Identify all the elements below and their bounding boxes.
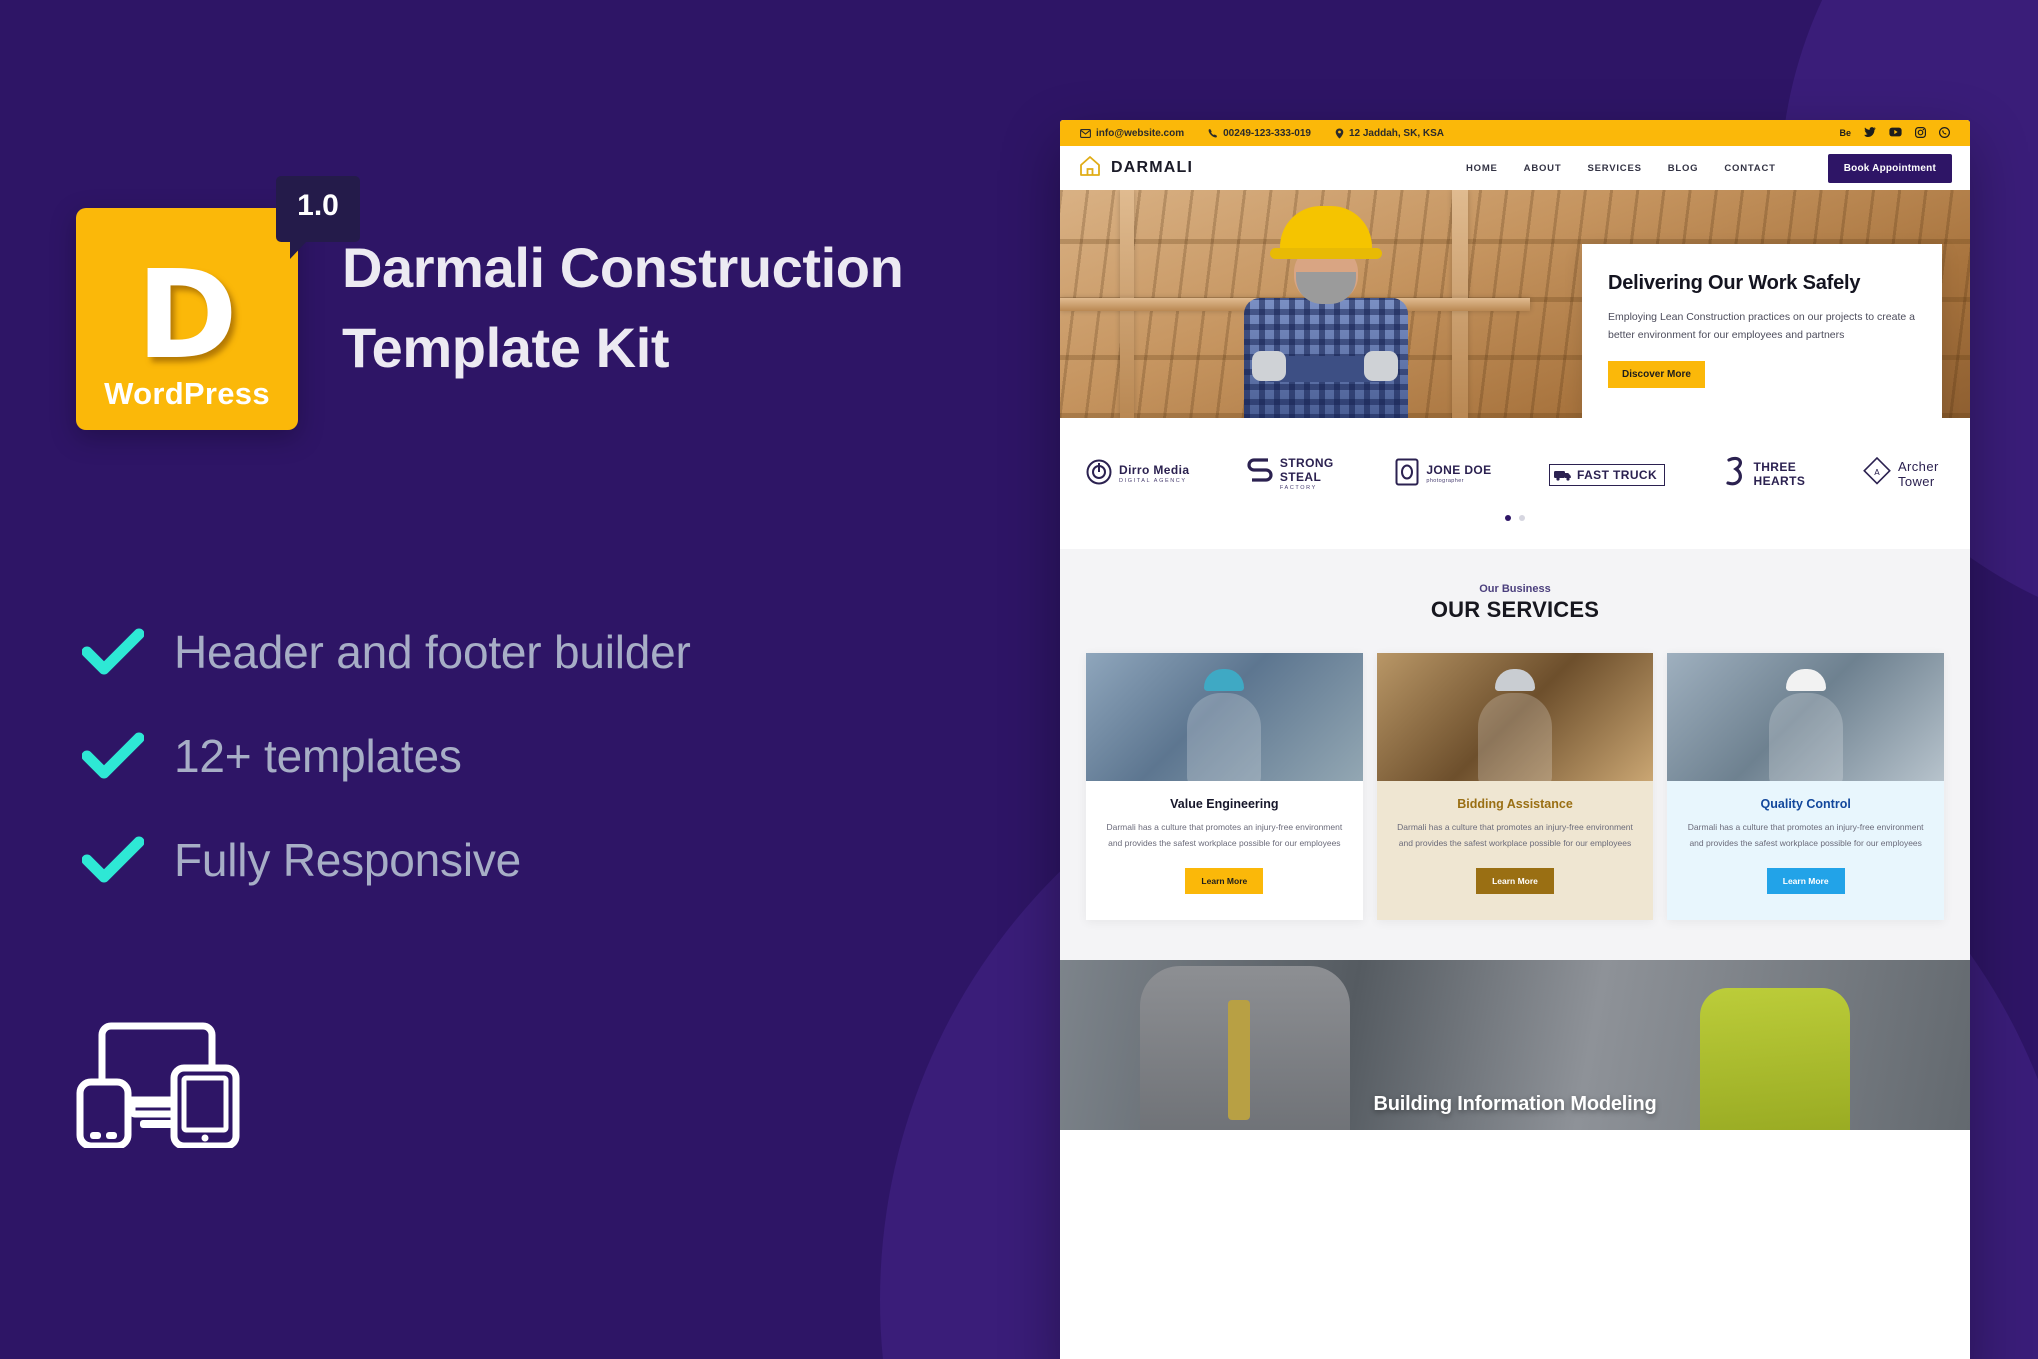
feature-list: Header and footer builder 12+ templates … <box>82 600 982 912</box>
list-item: Header and footer builder <box>82 600 982 704</box>
twitter-icon[interactable] <box>1864 127 1876 139</box>
partner-jone-doe[interactable]: JONE DOE photographer <box>1395 458 1491 491</box>
hero-worker-photo <box>1228 206 1424 418</box>
instagram-icon[interactable] <box>1915 127 1926 140</box>
strong-steal-logo-icon <box>1247 457 1273 492</box>
page-title-line1: Darmali Construction <box>342 228 1042 308</box>
bottom-band-section: Building Information Modeling <box>1060 960 1970 1130</box>
hero-body: Employing Lean Construction practices on… <box>1608 308 1916 345</box>
nav-item-home[interactable]: HOME <box>1466 163 1498 174</box>
partner-fast-truck[interactable]: FAST TRUCK <box>1549 464 1665 486</box>
envelope-icon <box>1080 129 1091 138</box>
contact-phone[interactable]: 00249-123-333-019 <box>1208 128 1311 139</box>
services-section: Our Business OUR SERVICES Value Engineer… <box>1060 549 1970 960</box>
service-card-value-engineering[interactable]: Value Engineering Darmali has a culture … <box>1086 653 1363 920</box>
services-title: OUR SERVICES <box>1086 597 1944 623</box>
service-heading: Value Engineering <box>1104 797 1345 811</box>
hero-heading: Delivering Our Work Safely <box>1608 272 1916 295</box>
site-navigation: DARMALI HOME ABOUT SERVICES BLOG CONTACT… <box>1060 146 1970 190</box>
service-image <box>1667 653 1944 781</box>
worker-helmet <box>1280 206 1372 254</box>
hero-section: Delivering Our Work Safely Employing Lea… <box>1060 190 1970 418</box>
service-image <box>1086 653 1363 781</box>
product-logo: D WordPress 1.0 <box>76 208 298 430</box>
service-worker-figure <box>1769 693 1843 781</box>
check-icon <box>82 732 174 780</box>
nav-item-blog[interactable]: BLOG <box>1668 163 1699 174</box>
service-body: Darmali has a culture that promotes an i… <box>1395 820 1636 851</box>
partner-sub: photographer <box>1426 479 1491 485</box>
page-title: Darmali Construction Template Kit <box>342 228 1042 387</box>
carousel-dot-2[interactable] <box>1519 515 1525 521</box>
hero-card: Delivering Our Work Safely Employing Lea… <box>1582 244 1942 418</box>
social-links: Be <box>1839 127 1950 140</box>
check-icon <box>82 836 174 884</box>
feature-label: 12+ templates <box>174 729 462 783</box>
partner-name: THREE HEARTS <box>1754 461 1806 489</box>
partner-sub: DIGITAL AGENCY <box>1119 479 1189 485</box>
page-title-line2: Template Kit <box>342 308 1042 388</box>
feature-label: Header and footer builder <box>174 625 691 679</box>
partner-name: Dirro Media <box>1119 464 1189 477</box>
learn-more-button[interactable]: Learn More <box>1476 868 1554 894</box>
service-heading: Quality Control <box>1685 797 1926 811</box>
nav-item-contact[interactable]: CONTACT <box>1724 163 1775 174</box>
partners-row: Dirro Media DIGITAL AGENCY STRONG STEAL … <box>1086 456 1944 493</box>
partner-sub: FACTORY <box>1280 486 1338 492</box>
house-outline-icon <box>1078 154 1102 183</box>
nav-item-services[interactable]: SERVICES <box>1587 163 1641 174</box>
partner-name: STRONG STEAL <box>1280 457 1338 485</box>
website-preview-mockup: info@website.com 00249-123-333-019 12 Ja… <box>1060 120 1970 1359</box>
contact-email[interactable]: info@website.com <box>1080 128 1184 139</box>
learn-more-button[interactable]: Learn More <box>1185 868 1263 894</box>
worker-glove-left <box>1252 351 1286 381</box>
discover-more-button[interactable]: Discover More <box>1608 361 1705 388</box>
feature-label: Fully Responsive <box>174 833 521 887</box>
service-card-bidding-assistance[interactable]: Bidding Assistance Darmali has a culture… <box>1377 653 1654 920</box>
partner-name: FAST TRUCK <box>1577 468 1657 482</box>
carousel-dot-1[interactable] <box>1505 515 1511 521</box>
partner-three-hearts[interactable]: THREE HEARTS <box>1723 456 1806 493</box>
site-brand-name: DARMALI <box>1111 159 1193 177</box>
list-item: Fully Responsive <box>82 808 982 912</box>
contact-phone-text: 00249-123-333-019 <box>1223 128 1311 139</box>
dirro-media-logo-icon <box>1086 459 1112 490</box>
three-hearts-logo-icon <box>1723 456 1747 493</box>
service-image <box>1377 653 1654 781</box>
archer-tower-logo-icon: A <box>1863 457 1891 492</box>
version-badge: 1.0 <box>276 176 360 242</box>
carousel-dots <box>1086 515 1944 521</box>
nav-item-about[interactable]: ABOUT <box>1524 163 1562 174</box>
youtube-icon[interactable] <box>1889 127 1902 139</box>
svg-text:A: A <box>1874 468 1880 477</box>
responsive-devices-icon <box>74 1020 246 1153</box>
partner-name: Archer Tower <box>1898 460 1944 490</box>
phone-icon <box>1208 128 1218 138</box>
version-badge-label: 1.0 <box>276 176 360 236</box>
services-grid: Value Engineering Darmali has a culture … <box>1086 653 1944 920</box>
partner-dirro-media[interactable]: Dirro Media DIGITAL AGENCY <box>1086 459 1189 490</box>
partner-strong-steal[interactable]: STRONG STEAL FACTORY <box>1247 457 1338 493</box>
learn-more-button[interactable]: Learn More <box>1767 868 1845 894</box>
bottom-band-caption: Building Information Modeling <box>1060 1093 1970 1116</box>
service-body: Darmali has a culture that promotes an i… <box>1104 820 1345 851</box>
service-body: Darmali has a culture that promotes an i… <box>1685 820 1926 851</box>
service-card-quality-control[interactable]: Quality Control Darmali has a culture th… <box>1667 653 1944 920</box>
left-info-panel: D WordPress 1.0 Darmali Construction Tem… <box>0 0 1060 1359</box>
nav-links: HOME ABOUT SERVICES BLOG CONTACT Book Ap… <box>1466 154 1952 183</box>
jone-doe-logo-icon <box>1395 458 1419 491</box>
fast-truck-logo-icon: FAST TRUCK <box>1549 464 1665 486</box>
list-item: 12+ templates <box>82 704 982 808</box>
service-worker-figure <box>1187 693 1261 781</box>
service-worker-figure <box>1478 693 1552 781</box>
services-eyebrow: Our Business <box>1086 583 1944 595</box>
partner-name: JONE DOE <box>1426 464 1491 477</box>
worker-glove-right <box>1364 351 1398 381</box>
contact-address-text: 12 Jaddah, SK, KSA <box>1349 128 1444 139</box>
partners-section: Dirro Media DIGITAL AGENCY STRONG STEAL … <box>1060 418 1970 549</box>
location-pin-icon <box>1335 128 1344 139</box>
site-topbar: info@website.com 00249-123-333-019 12 Ja… <box>1060 120 1970 146</box>
contact-email-text: info@website.com <box>1096 128 1184 139</box>
site-brand[interactable]: DARMALI <box>1078 154 1193 183</box>
logo-letter: D <box>76 254 298 376</box>
contact-address[interactable]: 12 Jaddah, SK, KSA <box>1335 128 1444 139</box>
whatsapp-icon[interactable] <box>1939 127 1950 140</box>
service-heading: Bidding Assistance <box>1395 797 1636 811</box>
behance-icon[interactable]: Be <box>1839 129 1851 138</box>
logo-platform-label: WordPress <box>76 376 298 412</box>
check-icon <box>82 628 174 676</box>
book-appointment-button[interactable]: Book Appointment <box>1828 154 1952 183</box>
partner-archer-tower[interactable]: A Archer Tower <box>1863 457 1944 492</box>
